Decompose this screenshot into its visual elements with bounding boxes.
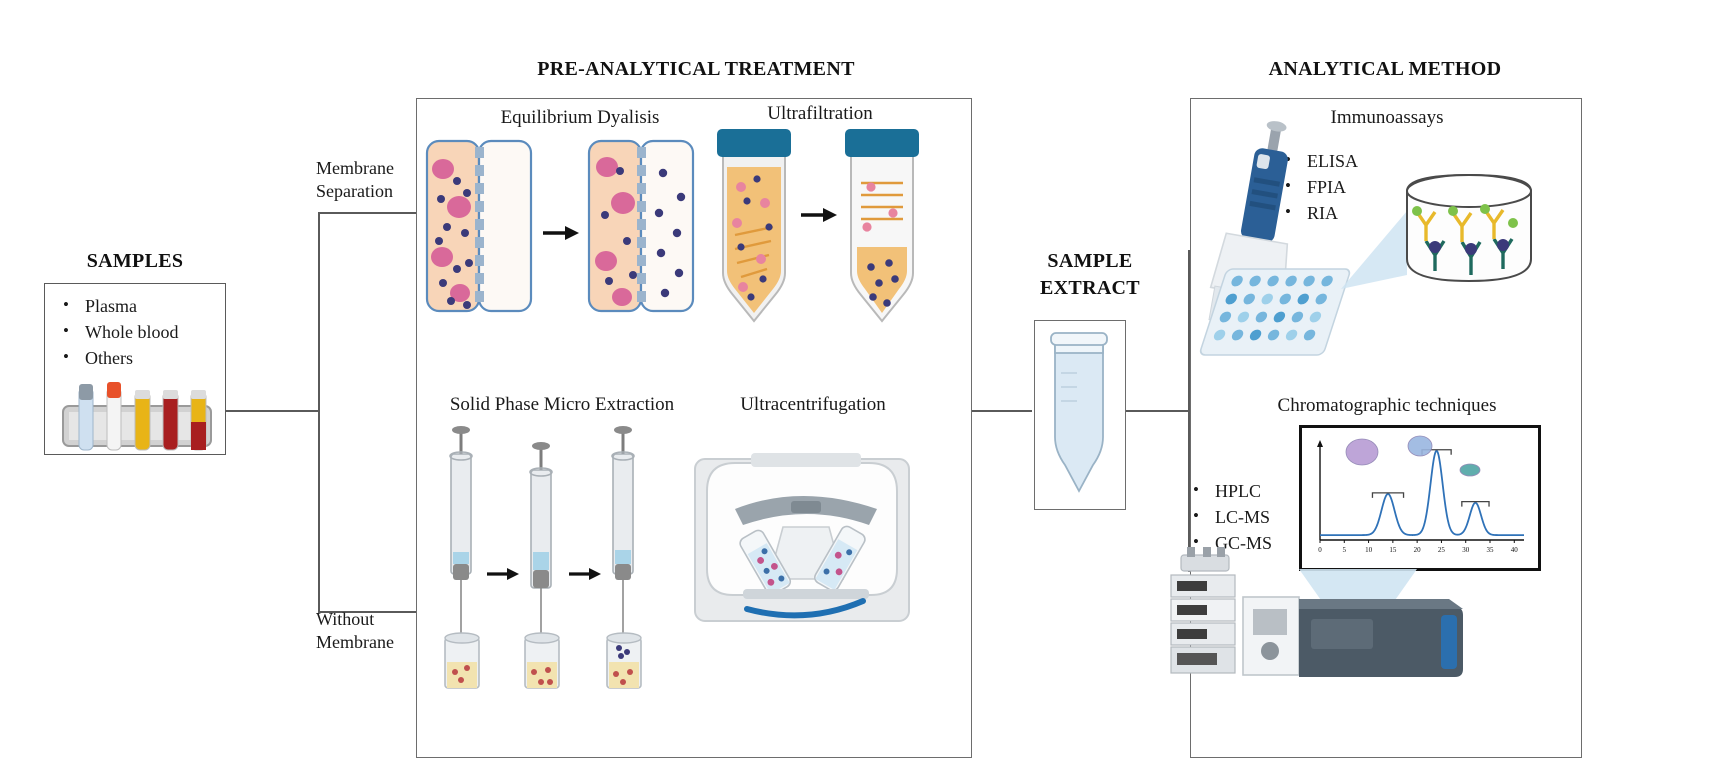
mass-spectrometer-icon — [1227, 569, 1477, 689]
x-tick-label: 30 — [1462, 546, 1470, 554]
connector-pre-to-extract — [972, 410, 1032, 412]
ultrafiltration-tube-icon — [713, 123, 913, 323]
eppendorf-tube-icon — [1035, 321, 1123, 507]
analytical-title: ANALYTICAL METHOD — [1190, 58, 1580, 81]
list-item: Whole blood — [59, 320, 225, 346]
connector-extract-to-analytical — [1126, 410, 1188, 412]
sample-extract-title: SAMPLE EXTRACT — [1030, 248, 1150, 302]
antibody-well-icon — [1331, 149, 1581, 339]
x-tick-label: 10 — [1365, 546, 1373, 554]
microplate-icon — [1191, 269, 1351, 379]
connector-branch-top — [318, 212, 416, 214]
molecule-icon — [1346, 439, 1378, 465]
chromatogram-curve — [1320, 451, 1524, 535]
molecule-icon — [1408, 436, 1432, 456]
chromatography-list: HPLC LC-MS GC-MS — [1189, 479, 1272, 557]
panel-title-equilibrium-dialysis: Equilibrium Dyalisis — [435, 107, 725, 129]
branch-trunk-vertical — [318, 212, 320, 612]
x-tick-label: 0 — [1318, 546, 1322, 554]
connector-samples-trunk — [226, 410, 318, 412]
panel-title-ultrafiltration: Ultrafiltration — [705, 103, 935, 125]
right-arrow-icon — [801, 208, 837, 222]
right-arrow-icon — [543, 226, 579, 240]
samples-box: Plasma Whole blood Others — [44, 283, 226, 455]
spme-syringe-icon — [431, 424, 681, 694]
list-item: Others — [59, 346, 225, 372]
sample-extract-box — [1034, 320, 1126, 510]
y-axis-arrow — [1317, 440, 1323, 447]
dialysis-cell-icon — [425, 137, 737, 322]
list-item: Plasma — [59, 294, 225, 320]
centrifuge-icon — [691, 431, 921, 631]
samples-title: SAMPLES — [44, 250, 226, 273]
right-arrow-icon — [487, 568, 519, 580]
test-tube-rack-icon — [45, 382, 225, 454]
samples-list: Plasma Whole blood Others — [59, 294, 225, 372]
panel-title-spme: Solid Phase Micro Extraction — [417, 394, 707, 416]
list-item: LC-MS — [1189, 505, 1272, 531]
x-tick-label: 25 — [1438, 546, 1446, 554]
pre-analytical-title: PRE-ANALYTICAL TREATMENT — [416, 58, 976, 81]
panel-title-ultracentrifugation: Ultracentrifugation — [673, 394, 953, 416]
list-item: HPLC — [1189, 479, 1272, 505]
chromatogram-panel: 0510152025303540 — [1299, 425, 1541, 571]
branch-label-without-membrane: Without Membrane — [316, 608, 394, 653]
branch-label-membrane: Membrane Separation — [316, 157, 394, 202]
x-tick-label: 35 — [1487, 546, 1495, 554]
x-tick-label: 40 — [1511, 546, 1519, 554]
analytical-box: Immunoassays ELISA FPIA RIA — [1190, 98, 1582, 758]
x-tick-label: 5 — [1343, 546, 1347, 554]
x-tick-label: 20 — [1414, 546, 1422, 554]
hplc-instrument-icon — [1147, 547, 1237, 677]
x-tick-label: 15 — [1389, 546, 1397, 554]
pre-analytical-box: Equilibrium Dyalisis — [416, 98, 972, 758]
right-arrow-icon — [569, 568, 601, 580]
molecule-icon — [1460, 464, 1480, 476]
chromatography-title: Chromatographic techniques — [1191, 395, 1583, 417]
